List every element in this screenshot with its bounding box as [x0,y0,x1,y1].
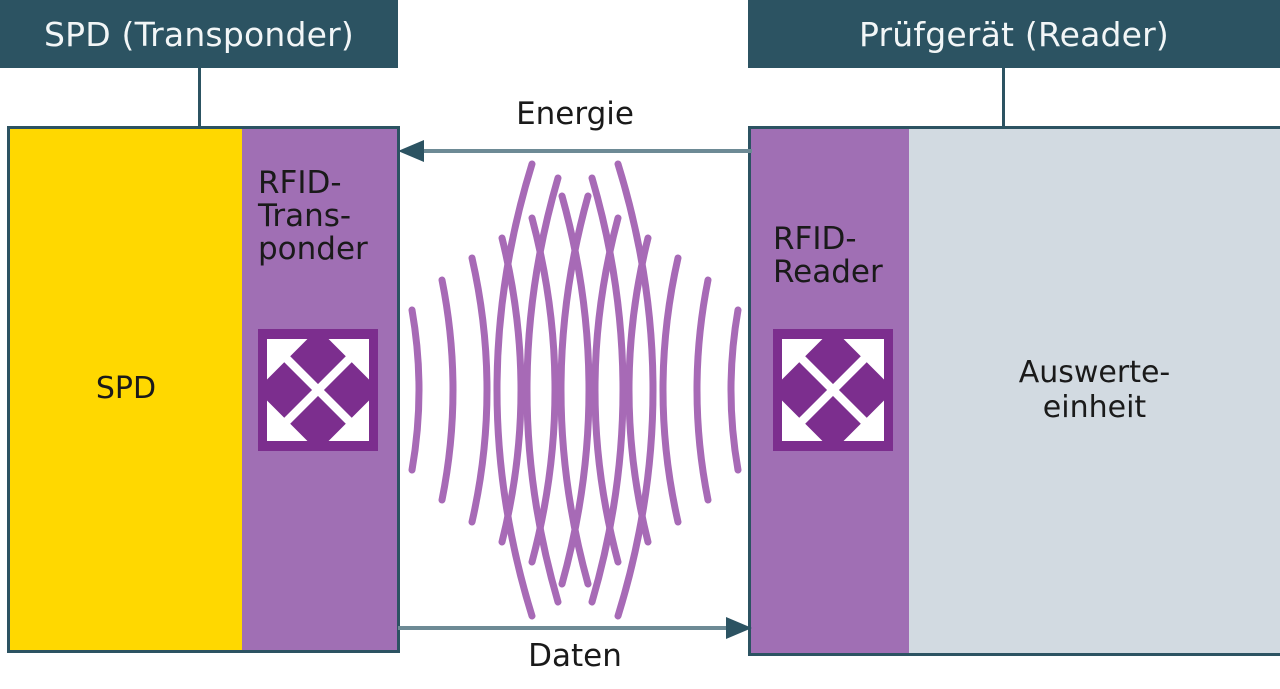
label-auswerteeinheit: Auswerte- einheit [1019,356,1171,426]
panel-label-spd: SPD [96,372,156,407]
panel-rfid-reader: RFID- Reader [751,129,909,653]
panel-rfid-transponder: RFID- Trans- ponder [242,129,397,650]
signal-label-daten: Daten [398,641,752,672]
device-box-reader: RFID- Reader Auswer [748,126,1280,656]
device-box-transponder: SPD RFID- Trans- ponder [7,126,400,653]
header-label-transponder: SPD (Transponder) [44,18,354,51]
header-label-reader: Prüfgerät (Reader) [859,18,1169,51]
header-bar-reader: Prüfgerät (Reader) [748,0,1280,68]
panel-spd: SPD [10,129,242,650]
panel-auswerteeinheit: Auswerte- einheit [909,129,1280,653]
rfid-transfer-icon [773,329,893,451]
rf-interference-wave-pattern [404,160,746,620]
rfid-system-diagram: SPD (Transponder) Prüfgerät (Reader) SPD… [0,0,1280,689]
rfid-transfer-icon [258,329,378,451]
connector-line-right [1002,68,1005,128]
header-bar-transponder: SPD (Transponder) [0,0,398,68]
label-rfid-transponder: RFID- Trans- ponder [258,167,368,266]
connector-line-left [198,68,201,128]
label-rfid-reader: RFID- Reader [773,223,883,289]
signal-label-energie: Energie [398,99,752,130]
